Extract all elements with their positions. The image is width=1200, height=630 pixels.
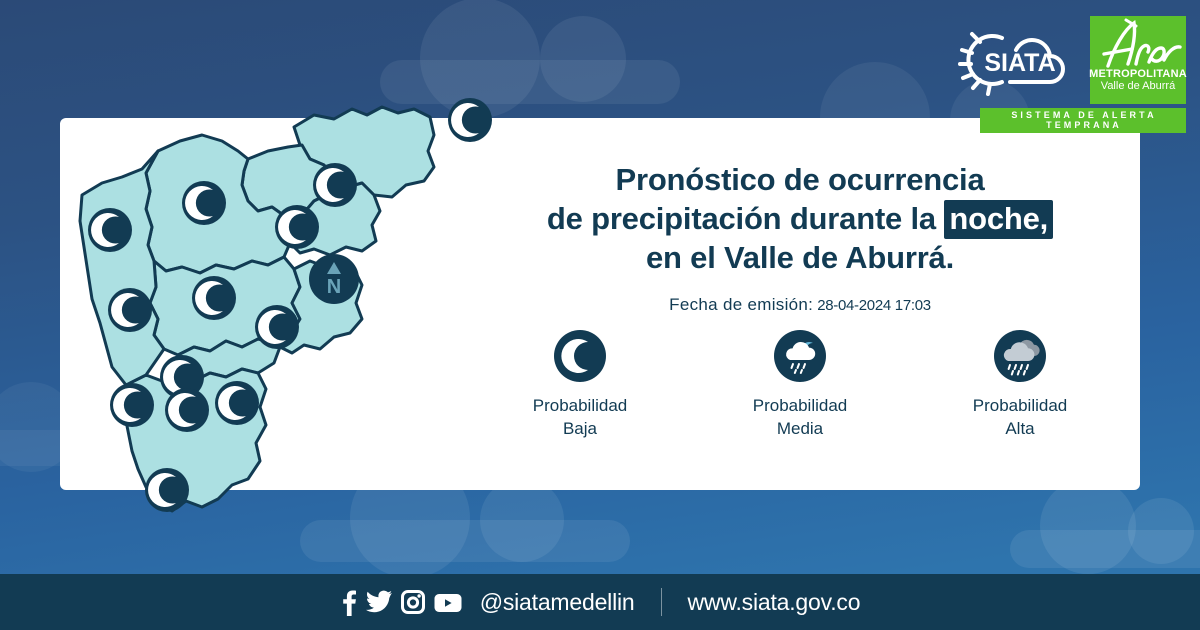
legend-label-baja-line2: Baja: [563, 419, 597, 438]
probability-legend: Probabilidad Baja Probabilidad M: [490, 330, 1110, 440]
legend-label-baja: Probabilidad Baja: [533, 394, 628, 440]
issue-date: Fecha de emisión:28-04-2024 17:03: [480, 295, 1120, 316]
legend-label-alta-line2: Alta: [1005, 419, 1034, 438]
compass-badge: N: [309, 254, 359, 304]
map-marker-moon[interactable]: [108, 288, 152, 332]
map-marker-moon[interactable]: [192, 276, 236, 320]
map-marker-moon[interactable]: [110, 383, 154, 427]
headline-block: Pronóstico de ocurrencia de precipitació…: [480, 160, 1120, 316]
page-title: Pronóstico de ocurrencia de precipitació…: [480, 160, 1120, 277]
headline-line-2-text: de precipitación durante la: [547, 201, 936, 236]
map-svg: N: [62, 55, 482, 575]
headline-emphasis: noche,: [944, 200, 1053, 239]
issue-date-label: Fecha de emisión:: [669, 295, 813, 314]
social-links: [340, 589, 462, 616]
map-marker-moon[interactable]: [313, 163, 357, 207]
legend-label-media: Probabilidad Media: [753, 394, 848, 440]
legend-item-alta[interactable]: Probabilidad Alta: [930, 330, 1110, 440]
map-marker-moon[interactable]: [215, 381, 259, 425]
legend-label-baja-line1: Probabilidad: [533, 396, 628, 415]
headline-line-2: de precipitación durante la noche,: [480, 199, 1120, 238]
twitter-icon[interactable]: [366, 590, 392, 614]
map-marker-moon[interactable]: [165, 388, 209, 432]
siata-wordmark: SIATA: [984, 49, 1055, 77]
map-marker-moon[interactable]: [275, 205, 319, 249]
background-cloud-icon: [1010, 530, 1200, 568]
legend-item-baja[interactable]: Probabilidad Baja: [490, 330, 670, 440]
headline-line-3: en el Valle de Aburrá.: [480, 238, 1120, 277]
brand-logo-block: SIATA METROPOLITANA Valle de Aburrá: [954, 16, 1186, 133]
legend-label-alta: Probabilidad Alta: [973, 394, 1068, 440]
youtube-icon[interactable]: [434, 592, 462, 613]
legend-item-media[interactable]: Probabilidad Media: [710, 330, 890, 440]
compass-label: N: [327, 276, 341, 298]
map-marker-moon[interactable]: [448, 98, 492, 142]
legend-label-media-line2: Media: [777, 419, 823, 438]
area-metropolitana-logo: METROPOLITANA Valle de Aburrá: [1090, 16, 1186, 104]
website-url[interactable]: www.siata.gov.co: [688, 589, 861, 616]
map-marker-moon[interactable]: [145, 468, 189, 512]
legend-label-media-line1: Probabilidad: [753, 396, 848, 415]
social-handle[interactable]: @siatamedellin: [480, 589, 635, 616]
map-marker-moon[interactable]: [182, 181, 226, 225]
map-marker-moon[interactable]: [255, 305, 299, 349]
sun-cloud-icon: SIATA: [954, 24, 1082, 96]
cloud-heavy-rain-icon: [994, 330, 1046, 382]
issue-date-value: 28-04-2024 17:03: [817, 297, 931, 314]
instagram-icon[interactable]: [401, 590, 425, 614]
map-marker-moon[interactable]: [88, 208, 132, 252]
cloud-moon-rain-icon: [774, 330, 826, 382]
moon-icon: [554, 330, 606, 382]
area-line-1: METROPOLITANA: [1089, 68, 1187, 80]
tagline-bar: SISTEMA DE ALERTA TEMPRANA: [980, 108, 1186, 133]
infographic-canvas: SIATA METROPOLITANA Valle de Aburrá: [0, 0, 1200, 630]
facebook-icon[interactable]: [340, 589, 357, 616]
area-line-2: Valle de Aburrá: [1101, 80, 1175, 93]
logo-row: SIATA METROPOLITANA Valle de Aburrá: [954, 16, 1186, 104]
headline-line-1: Pronóstico de ocurrencia: [480, 160, 1120, 199]
legend-label-alta-line1: Probabilidad: [973, 396, 1068, 415]
area-script-icon: [1092, 18, 1184, 70]
footer-divider: [661, 588, 662, 616]
valle-de-aburra-map: N: [62, 55, 482, 575]
footer-bar: @siatamedellin www.siata.gov.co: [0, 574, 1200, 630]
